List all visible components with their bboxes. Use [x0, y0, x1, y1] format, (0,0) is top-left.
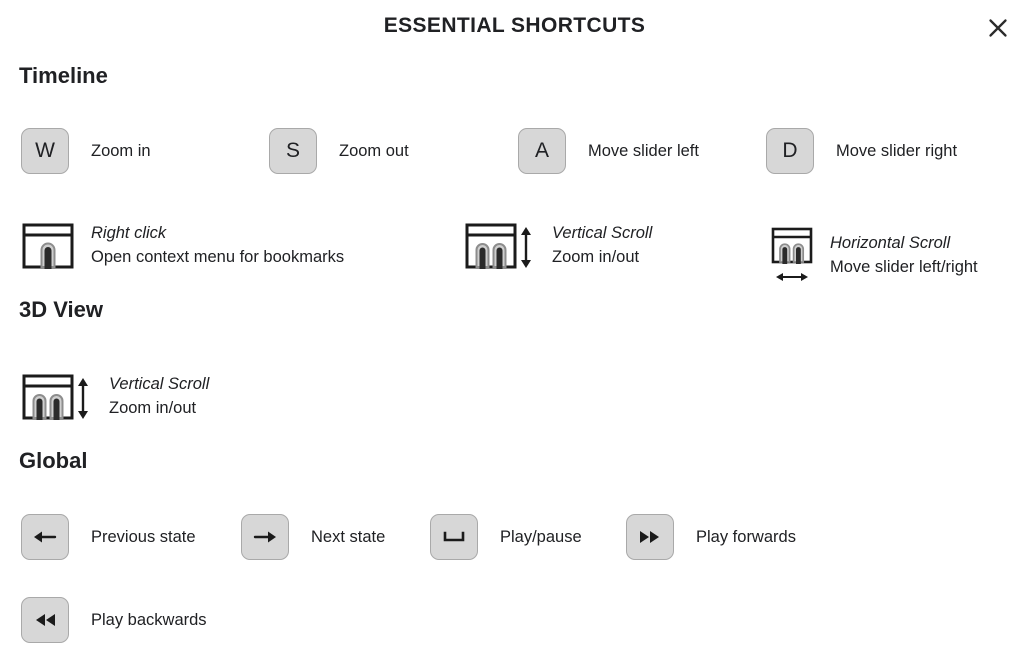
shortcut-label: Zoom in	[91, 142, 151, 161]
rewind-icon	[31, 611, 59, 629]
shortcut-label: Previous state	[91, 528, 196, 547]
gesture-action: Vertical Scroll	[109, 373, 209, 397]
shortcut-item-zoom-in: W Zoom in	[21, 128, 151, 174]
gesture-description: Move slider left/right	[830, 256, 978, 280]
trackpad-vertical-scroll-icon	[464, 219, 536, 273]
shortcut-item-vertical-scroll-3dview: Vertical Scroll Zoom in/out	[21, 370, 209, 424]
close-icon	[987, 17, 1009, 39]
shortcut-item-previous-state: Previous state	[21, 514, 196, 560]
spacebar-icon	[441, 528, 467, 546]
shortcut-label: Move slider right	[836, 142, 957, 161]
gesture-description: Zoom in/out	[552, 246, 652, 270]
shortcut-label: Zoom out	[339, 142, 409, 161]
gesture-action: Right click	[91, 222, 344, 246]
key-s[interactable]: S	[269, 128, 317, 174]
arrow-right-key[interactable]	[241, 514, 289, 560]
shortcut-label: Play/pause	[500, 528, 582, 547]
shortcut-item-move-slider-right: D Move slider right	[766, 128, 957, 174]
trackpad-vertical-scroll-icon	[21, 370, 93, 424]
gesture-description: Open context menu for bookmarks	[91, 246, 344, 270]
shortcut-item-zoom-out: S Zoom out	[269, 128, 409, 174]
rewind-key[interactable]	[21, 597, 69, 643]
shortcut-item-horizontal-scroll: Horizontal Scroll Move slider left/right	[770, 225, 978, 287]
trackpad-right-click-icon	[21, 219, 75, 273]
shortcut-item-play-pause: Play/pause	[430, 514, 582, 560]
fast-forward-key[interactable]	[626, 514, 674, 560]
shortcut-item-next-state: Next state	[241, 514, 385, 560]
arrow-right-icon	[252, 526, 278, 548]
shortcut-label: Play forwards	[696, 528, 796, 547]
shortcut-label: Play backwards	[91, 611, 207, 630]
key-a[interactable]: A	[518, 128, 566, 174]
gesture-action: Horizontal Scroll	[830, 232, 978, 256]
shortcut-item-play-backwards: Play backwards	[21, 597, 207, 643]
shortcuts-dialog: ESSENTIAL SHORTCUTS Timeline W Zoom in S…	[0, 0, 1029, 665]
trackpad-horizontal-scroll-icon	[770, 225, 816, 287]
shortcut-label: Next state	[311, 528, 385, 547]
section-heading-global: Global	[19, 448, 87, 474]
close-button[interactable]	[983, 13, 1013, 43]
arrow-left-key[interactable]	[21, 514, 69, 560]
gesture-description: Zoom in/out	[109, 397, 209, 421]
arrow-left-icon	[32, 526, 58, 548]
spacebar-key[interactable]	[430, 514, 478, 560]
gesture-action: Vertical Scroll	[552, 222, 652, 246]
section-heading-3dview: 3D View	[19, 297, 103, 323]
shortcut-item-right-click: Right click Open context menu for bookma…	[21, 219, 344, 273]
page-title: ESSENTIAL SHORTCUTS	[0, 14, 1029, 38]
key-d[interactable]: D	[766, 128, 814, 174]
section-heading-timeline: Timeline	[19, 63, 108, 89]
shortcut-item-play-forwards: Play forwards	[626, 514, 796, 560]
shortcut-item-vertical-scroll-timeline: Vertical Scroll Zoom in/out	[464, 219, 652, 273]
shortcut-item-move-slider-left: A Move slider left	[518, 128, 699, 174]
key-w[interactable]: W	[21, 128, 69, 174]
shortcut-label: Move slider left	[588, 142, 699, 161]
fast-forward-icon	[636, 528, 664, 546]
